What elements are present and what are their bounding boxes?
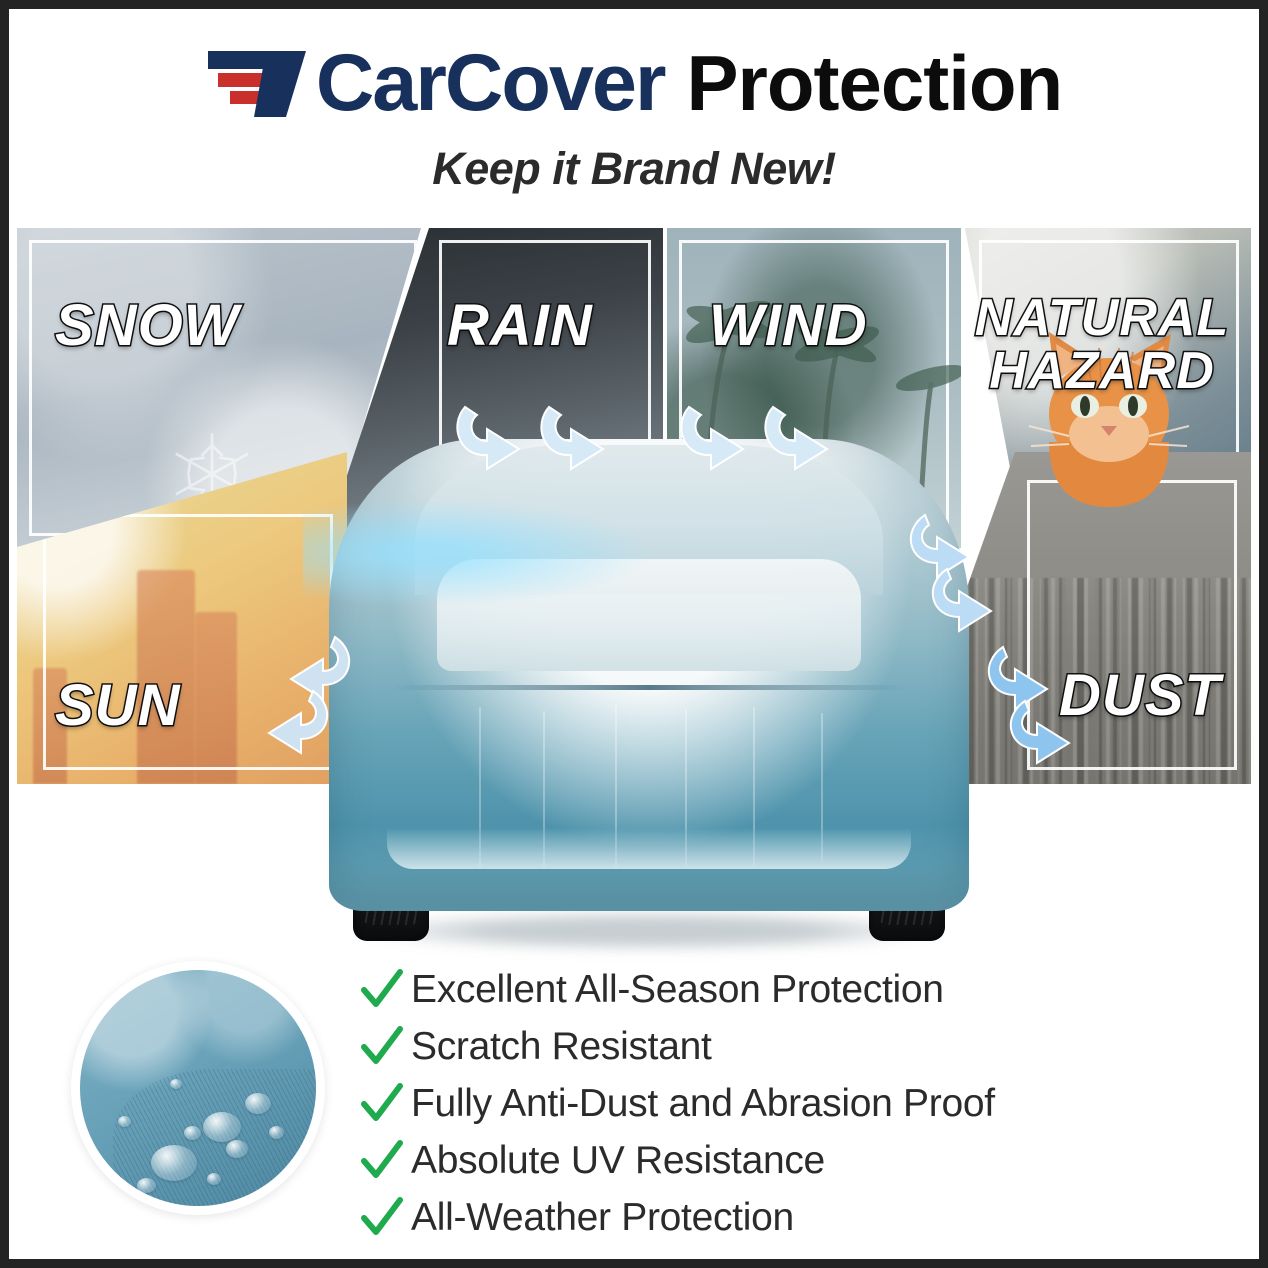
panel-label-sun: SUN	[55, 676, 180, 735]
car-cover-hem	[387, 829, 911, 869]
feature-item: All-Weather Protection	[353, 1189, 1183, 1246]
feature-item: Absolute UV Resistance	[353, 1132, 1183, 1189]
feature-list: Excellent All-Season Protection Scratch …	[353, 961, 1183, 1246]
feature-label: Fully Anti-Dust and Abrasion Proof	[411, 1084, 995, 1123]
deflect-arrows-right-upper	[871, 507, 1021, 637]
panel-label-natural-hazard: NATURAL HAZARD	[967, 292, 1237, 398]
check-icon	[353, 1081, 411, 1127]
fabric-swatch-image	[80, 970, 316, 1206]
brand-row: CarCover Protection	[9, 37, 1259, 129]
deflect-arrows-rain	[445, 401, 605, 481]
fabric-swatch	[71, 961, 325, 1215]
panel-label-snow: SNOW	[55, 296, 239, 355]
feature-item: Fully Anti-Dust and Abrasion Proof	[353, 1075, 1183, 1132]
icarcover-logo-icon	[206, 45, 312, 121]
infographic-canvas: CarCover Protection Keep it Brand New!	[9, 9, 1259, 1259]
deflect-arrows-wind	[669, 401, 829, 481]
feature-item: Excellent All-Season Protection	[353, 961, 1183, 1018]
feature-label: All-Weather Protection	[411, 1198, 794, 1237]
check-icon	[353, 1195, 411, 1241]
header-tagline: Keep it Brand New!	[9, 143, 1259, 195]
panel-label-wind: WIND	[709, 296, 868, 355]
feature-label: Scratch Resistant	[411, 1027, 712, 1066]
feature-item: Scratch Resistant	[353, 1018, 1183, 1075]
deflect-arrows-left	[239, 629, 389, 759]
car-cover-windshield	[437, 559, 861, 671]
panel-label-rain: RAIN	[447, 296, 593, 355]
check-icon	[353, 1024, 411, 1070]
check-icon	[353, 1138, 411, 1184]
brand-name: CarCover	[316, 45, 665, 121]
header: CarCover Protection Keep it Brand New!	[9, 9, 1259, 209]
check-icon	[353, 967, 411, 1013]
feature-label: Absolute UV Resistance	[411, 1141, 825, 1180]
feature-label: Excellent All-Season Protection	[411, 970, 944, 1009]
brand-tagword: Protection	[686, 45, 1062, 121]
deflect-arrows-right-lower	[949, 639, 1099, 769]
car-ground-shadow	[357, 911, 941, 951]
car-cover-seam	[391, 685, 907, 690]
product-infographic: CarCover Protection Keep it Brand New!	[0, 0, 1268, 1268]
